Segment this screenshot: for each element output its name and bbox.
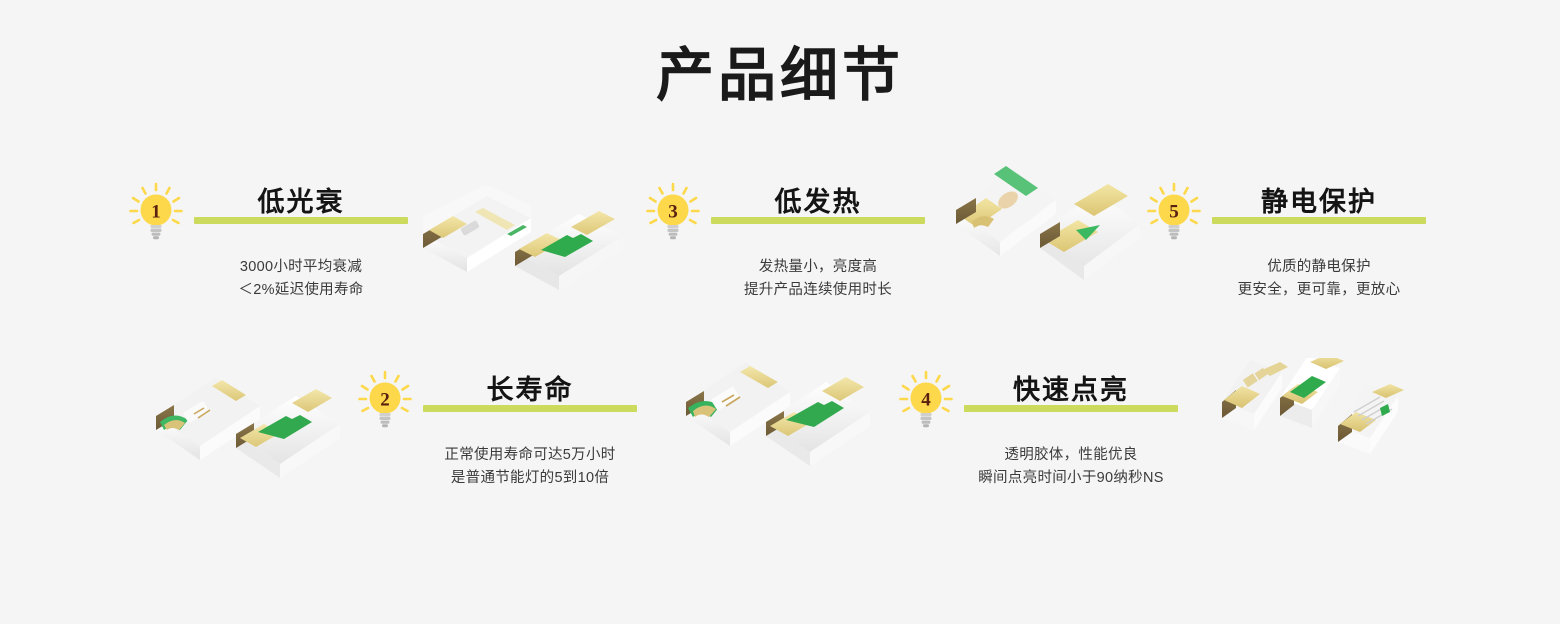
lightbulb-number: 2	[380, 390, 390, 411]
lightbulb-icon-graphic: 2	[357, 370, 413, 430]
feature-description: 正常使用寿命可达5万小时 是普通节能灯的5到10倍	[403, 444, 657, 490]
feature-description-line: 更安全，更可靠，更放心	[1192, 279, 1446, 302]
feature-underline	[964, 405, 1178, 412]
smd-led-illustration	[1218, 358, 1418, 478]
product-details-page: 产品细节	[0, 0, 1560, 624]
feature-description: 发热量小，亮度高 提升产品连续使用时长	[691, 256, 945, 302]
smd-led-illustration	[415, 186, 625, 301]
smd-led-illustration	[680, 352, 875, 470]
feature-title: 快速点亮	[964, 368, 1178, 407]
feature-description: 3000小时平均衰减 ＜2%延迟使用寿命	[174, 256, 428, 302]
lightbulb-icon-graphic: 3	[645, 182, 701, 242]
feature-title: 静电保护	[1212, 180, 1426, 219]
feature-description-line: 透明胶体，性能优良	[944, 444, 1198, 467]
lightbulb-number: 4	[921, 390, 931, 411]
lightbulb-number: 1	[151, 202, 161, 223]
feature-description: 优质的静电保护 更安全，更可靠，更放心	[1192, 256, 1446, 302]
feature-title: 低发热	[711, 180, 925, 219]
feature-description-line: 优质的静电保护	[1192, 256, 1446, 279]
feature-description-line: 瞬间点亮时间小于90纳秒NS	[944, 467, 1198, 490]
feature-underline	[423, 405, 637, 412]
smd-led-illustration	[150, 368, 345, 483]
smd-led-illustration	[950, 160, 1150, 280]
feature-title: 低光衰	[194, 180, 408, 219]
lightbulb-icon-graphic: 1	[128, 182, 184, 242]
feature-title: 长寿命	[423, 368, 637, 407]
feature-underline	[1212, 217, 1426, 224]
product-image-smd-led-pair-top-row-1	[415, 186, 625, 301]
feature-description-line: 正常使用寿命可达5万小时	[403, 444, 657, 467]
lightbulb-icon: 2	[357, 370, 413, 430]
lightbulb-icon: 4	[898, 370, 954, 430]
feature-description-line: 提升产品连续使用时长	[691, 279, 945, 302]
lightbulb-icon-graphic: 5	[1146, 182, 1202, 242]
lightbulb-icon: 3	[645, 182, 701, 242]
lightbulb-icon-graphic: 4	[898, 370, 954, 430]
lightbulb-number: 5	[1169, 202, 1179, 223]
feature-description-line: 发热量小，亮度高	[691, 256, 945, 279]
product-image-smd-led-pair-top-row-2	[950, 160, 1150, 280]
product-image-smd-led-pair-bottom-row-1	[150, 368, 345, 483]
lightbulb-number: 3	[668, 202, 678, 223]
product-image-smd-led-pair-bottom-row-2	[680, 352, 875, 470]
feature-description-line: 是普通节能灯的5到10倍	[403, 467, 657, 490]
product-image-smd-led-trio-bottom-row-3	[1218, 358, 1418, 478]
lightbulb-icon: 1	[128, 182, 184, 242]
feature-description-line: 3000小时平均衰减	[174, 256, 428, 279]
feature-description-line: ＜2%延迟使用寿命	[174, 279, 428, 302]
feature-underline	[194, 217, 408, 224]
feature-description: 透明胶体，性能优良 瞬间点亮时间小于90纳秒NS	[944, 444, 1198, 490]
feature-underline	[711, 217, 925, 224]
lightbulb-icon: 5	[1146, 182, 1202, 242]
page-title: 产品细节	[0, 44, 1560, 108]
